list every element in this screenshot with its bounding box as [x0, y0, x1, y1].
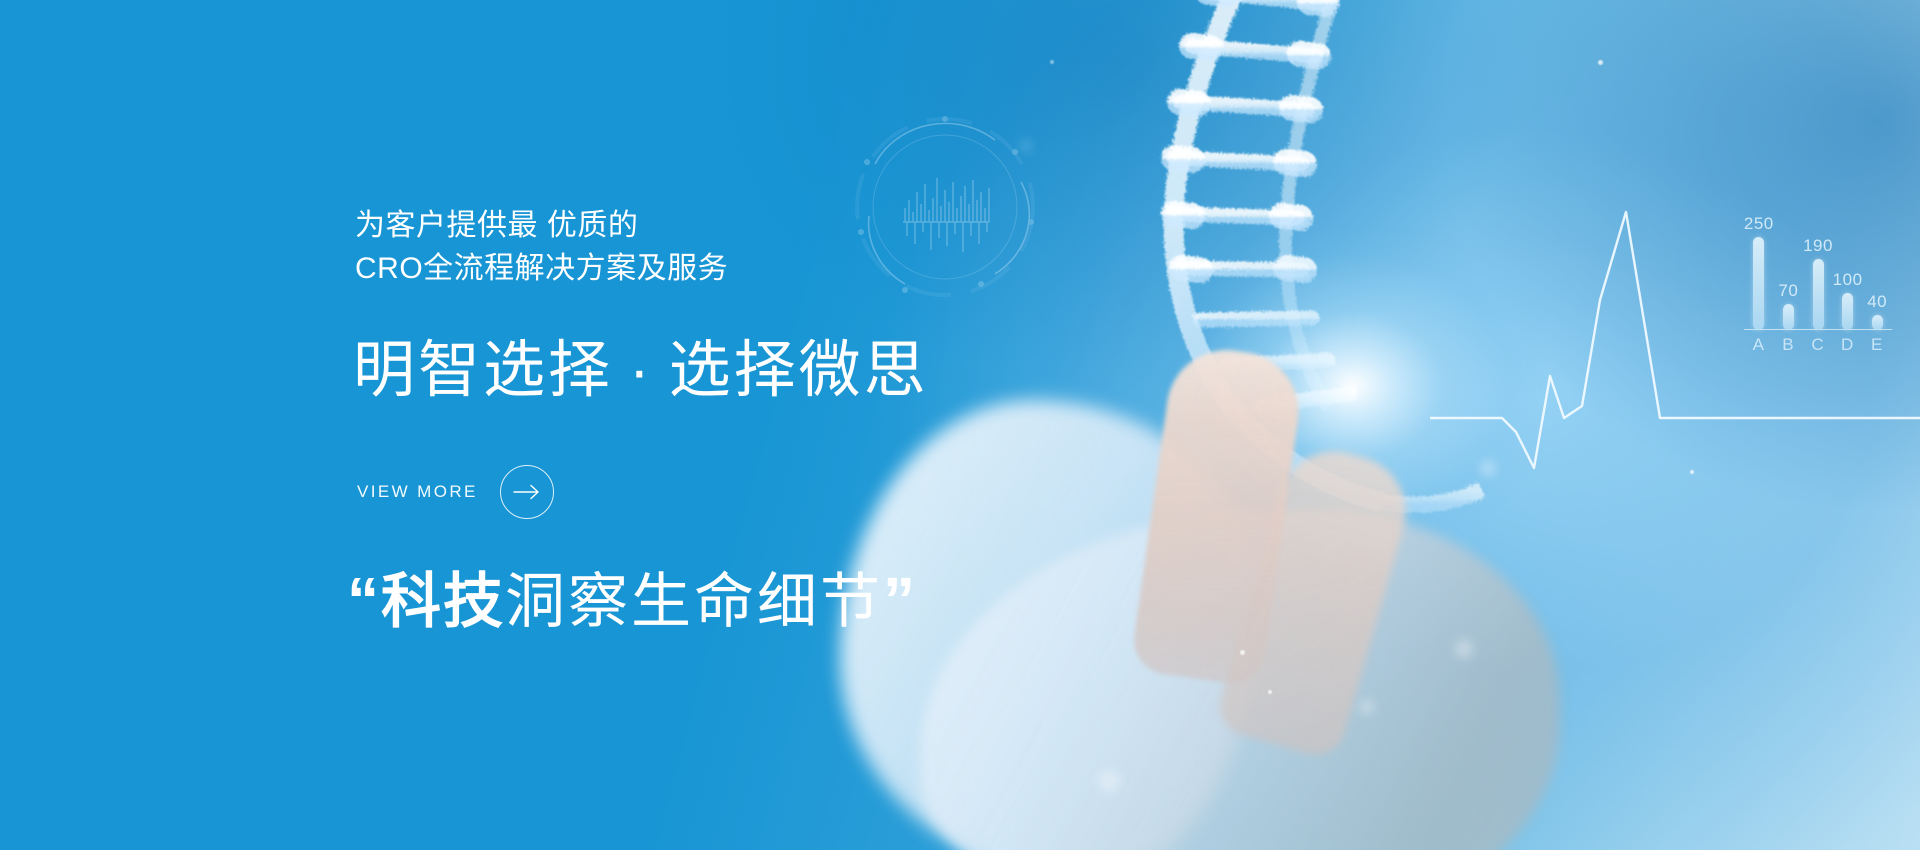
- headline-right: 选择微思: [669, 336, 929, 405]
- hud-bar: [1842, 293, 1853, 330]
- hud-bar-value: 190: [1795, 236, 1841, 256]
- hud-bar-chart: 2507019010040 ABCDE: [1744, 192, 1892, 378]
- hud-bar: [1872, 315, 1883, 330]
- headline-separator: ·: [613, 336, 669, 405]
- hero-headline: 明智选择·选择微思: [353, 336, 929, 405]
- hero-subtitle: 为客户提供最 优质的 CRO全流程解决方案及服务: [355, 205, 728, 290]
- particle-dot: [1598, 60, 1603, 65]
- quote-strong: 科技: [381, 568, 505, 635]
- hud-category-labels: ABCDE: [1744, 335, 1892, 361]
- particle-bokeh: [1360, 700, 1374, 714]
- subtitle-line-2: CRO全流程解决方案及服务: [355, 248, 728, 291]
- subtitle-line-1: 为客户提供最 优质的: [355, 205, 728, 248]
- hud-bar: [1813, 259, 1824, 330]
- hero-quote: “科技洞察生命细节”: [347, 565, 917, 637]
- arrow-right-icon[interactable]: [500, 465, 554, 519]
- hud-bar-column: [1813, 259, 1824, 330]
- quote-light: 洞察生命细节: [505, 568, 883, 635]
- particle-bokeh: [1480, 460, 1496, 476]
- hud-bar-column: [1872, 315, 1883, 330]
- hud-bar-value: 250: [1736, 214, 1782, 234]
- quote-open-mark: “: [347, 564, 381, 636]
- hud-bar: [1753, 237, 1764, 330]
- view-more-button[interactable]: VIEW MORE: [357, 465, 554, 519]
- hud-bar-value: 100: [1825, 270, 1871, 290]
- hud-bar: [1783, 304, 1794, 330]
- quote-close-mark: ”: [883, 564, 917, 636]
- particle-dot: [1268, 690, 1272, 694]
- hero-banner: 2507019010040 ABCDE 为客户提供最 优质的 CRO全流程解决方…: [0, 0, 1920, 850]
- view-more-label: VIEW MORE: [357, 482, 478, 502]
- hud-category-label: E: [1857, 335, 1897, 355]
- hud-bar-column: [1753, 237, 1764, 330]
- headline-left: 明智选择: [353, 336, 613, 405]
- hud-bar-column: [1783, 304, 1794, 330]
- hero-content: 为客户提供最 优质的 CRO全流程解决方案及服务 明智选择·选择微思 VIEW …: [355, 0, 1115, 850]
- particle-dot: [1240, 650, 1245, 655]
- hud-bar-plot: 2507019010040: [1744, 192, 1892, 330]
- particle-dot: [1690, 470, 1694, 474]
- hud-bar-column: [1842, 293, 1853, 330]
- hud-bar-value: 40: [1854, 292, 1900, 312]
- particle-bokeh: [1455, 640, 1473, 658]
- hud-bar-value: 70: [1765, 281, 1811, 301]
